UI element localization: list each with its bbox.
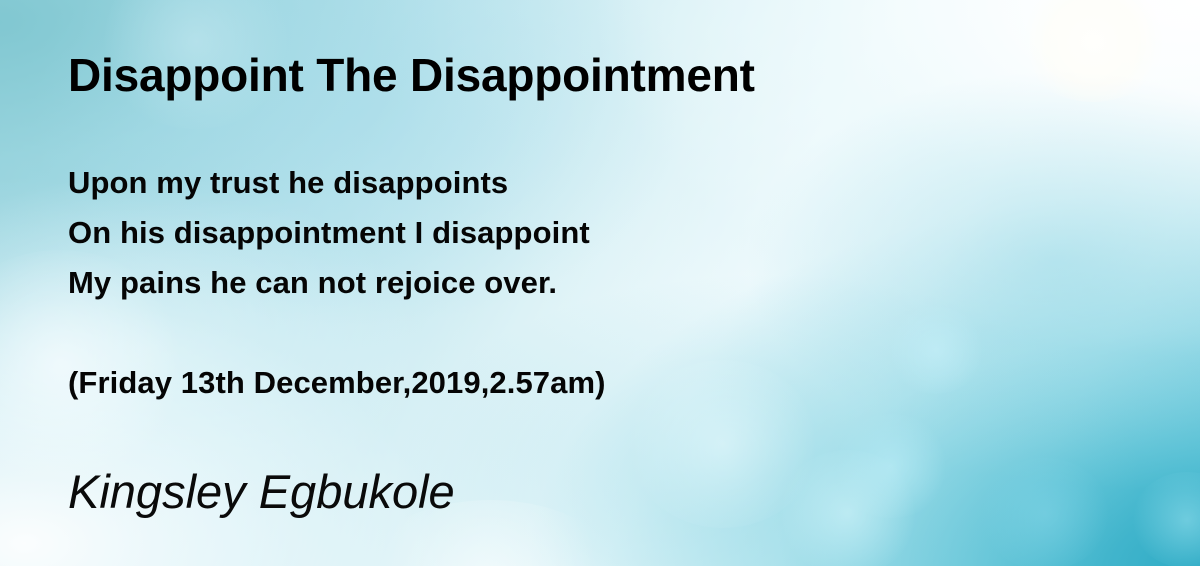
poem-line: On his disappointment I disappoint <box>68 208 590 258</box>
poem-author: Kingsley Egbukole <box>68 466 455 518</box>
poem-content: Disappoint The Disappointment Upon my tr… <box>68 0 1128 566</box>
poem-line: My pains he can not rejoice over. <box>68 258 590 308</box>
page-title: Disappoint The Disappointment <box>68 51 755 99</box>
poem-stanza: Upon my trust he disappoints On his disa… <box>68 158 590 308</box>
bokeh-blob-far-right <box>1132 472 1200 566</box>
poem-datestamp: (Friday 13th December,2019,2.57am) <box>68 363 606 403</box>
poem-card: Disappoint The Disappointment Upon my tr… <box>0 0 1200 566</box>
poem-line: Upon my trust he disappoints <box>68 158 590 208</box>
